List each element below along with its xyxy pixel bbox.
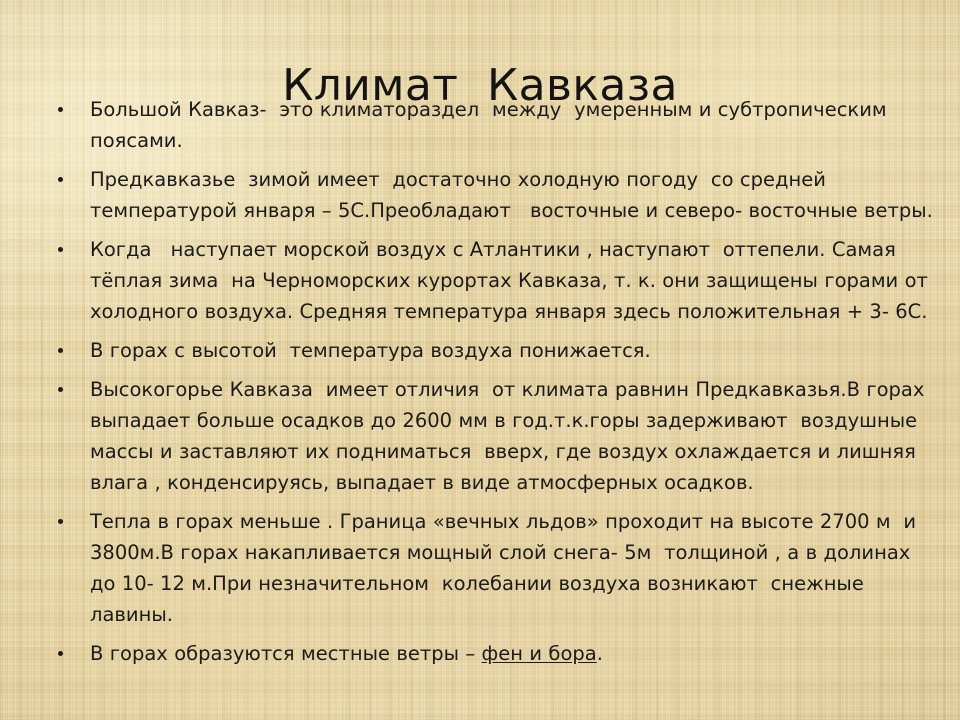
bullet-dot-icon	[58, 348, 63, 353]
bullet-list: Большой Кавказ- это климатораздел между …	[52, 94, 938, 669]
list-item-text: Тепла в горах меньше . Граница «вечных л…	[90, 506, 938, 630]
list-item: Тепла в горах меньше . Граница «вечных л…	[52, 506, 938, 630]
bullet-dot-icon	[58, 651, 63, 656]
bullet-dot-icon	[58, 177, 63, 182]
list-item: Предкавказье зимой имеет достаточно холо…	[52, 164, 938, 226]
list-item: Высокогорье Кавказа имеет отличия от кли…	[52, 374, 938, 498]
list-item: В горах образуются местные ветры – фен и…	[52, 638, 938, 669]
bullet-dot-icon	[58, 387, 63, 392]
list-item-text: Высокогорье Кавказа имеет отличия от кли…	[90, 374, 938, 498]
list-item-text-lead: В горах образуются местные ветры –	[90, 642, 482, 665]
list-item: В горах с высотой температура воздуха по…	[52, 335, 938, 366]
list-item: Большой Кавказ- это климатораздел между …	[52, 94, 938, 156]
slide-canvas: Климат Кавказа Большой Кавказ- это клима…	[0, 0, 960, 720]
bullet-dot-icon	[58, 519, 63, 524]
list-item-text: В горах образуются местные ветры – фен и…	[90, 638, 938, 669]
bullet-dot-icon	[58, 107, 63, 112]
list-item-text: Когда наступает морской воздух с Атланти…	[90, 234, 938, 327]
wind-terms-emphasis: фен и бора	[482, 642, 597, 665]
list-item: Когда наступает морской воздух с Атланти…	[52, 234, 938, 327]
list-item-text: Большой Кавказ- это климатораздел между …	[90, 94, 938, 156]
list-item-text-tail: .	[597, 642, 603, 665]
list-item-text: Предкавказье зимой имеет достаточно холо…	[90, 164, 938, 226]
list-item-text: В горах с высотой температура воздуха по…	[90, 335, 938, 366]
bullet-dot-icon	[58, 247, 63, 252]
